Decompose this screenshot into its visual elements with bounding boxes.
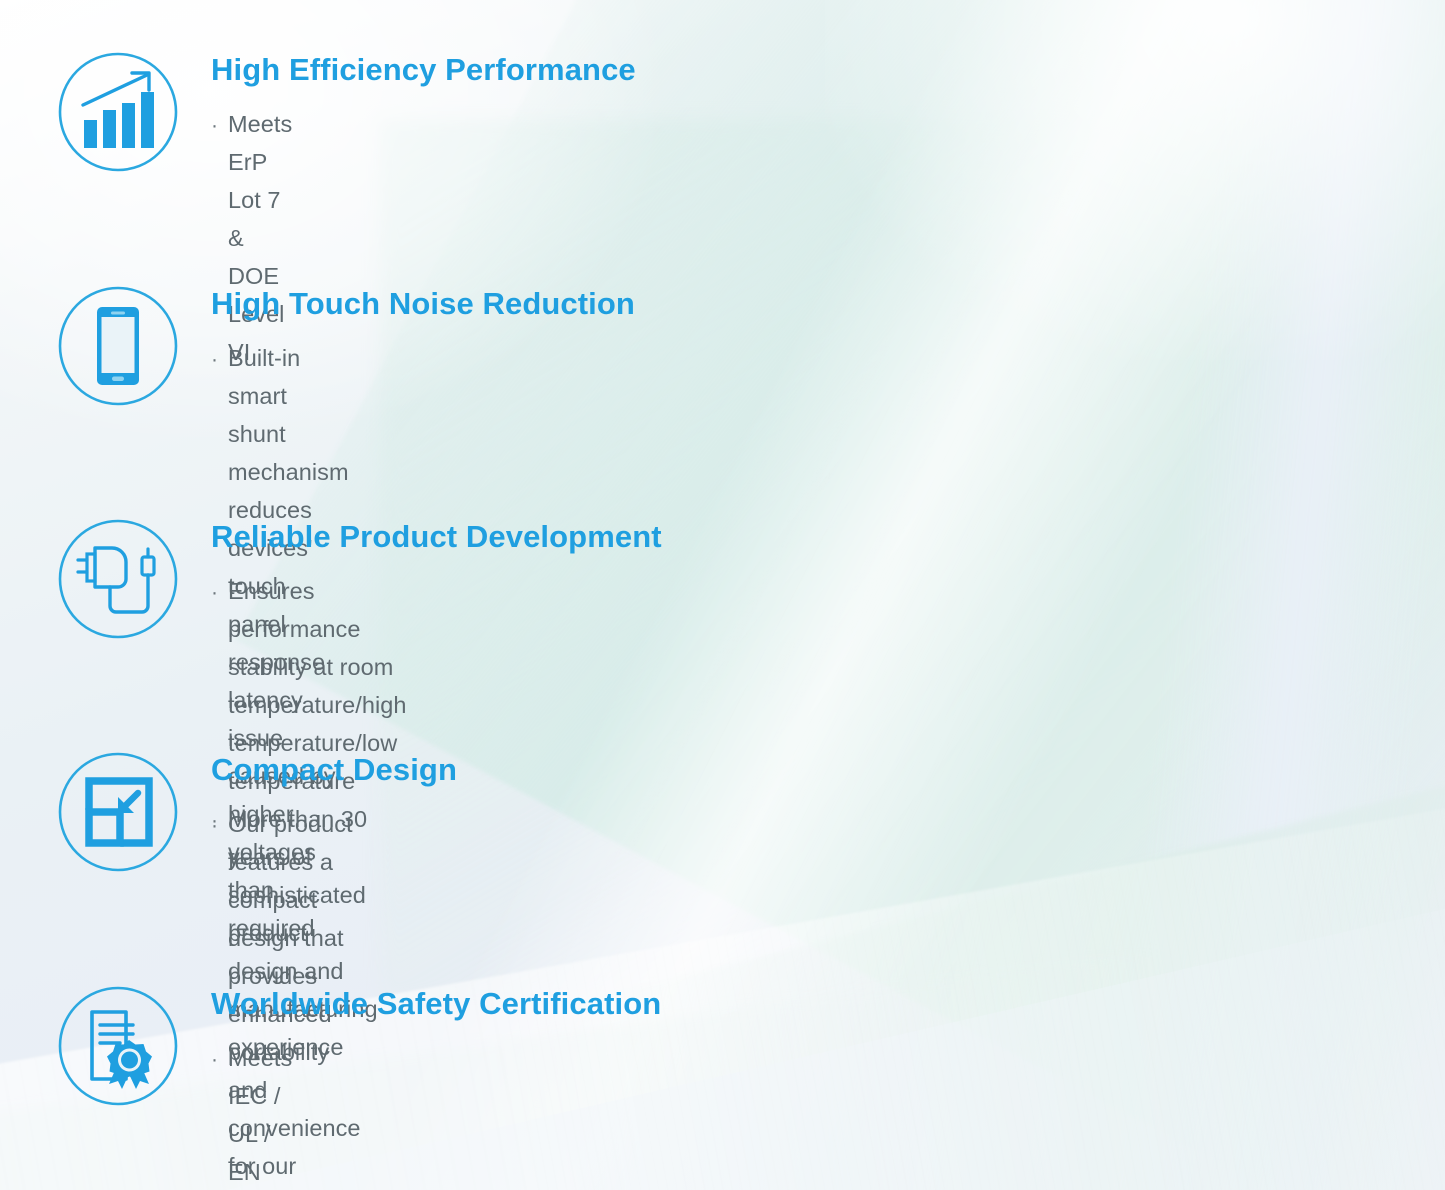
feature-highlights-page: High Efficiency Performance · Meets ErP … (0, 0, 1445, 1190)
power-adapter-icon (54, 515, 182, 643)
bullet-marker: · (211, 1043, 228, 1077)
features-list: High Efficiency Performance · Meets ErP … (0, 0, 1445, 1190)
compact-resize-icon (54, 748, 182, 876)
bullet-text: Meets ErP Lot 7 & DOE Level VI (228, 105, 292, 371)
bullet-marker: · (211, 343, 228, 377)
certificate-award-icon (54, 982, 182, 1110)
bullet-text: Meets IEC / UL / EN 62368-1 (228, 1039, 301, 1190)
bullet-marker: · (211, 109, 228, 143)
bullet-marker: · (211, 576, 228, 610)
bullet-marker: · (211, 809, 228, 843)
bar-chart-growth-icon (54, 48, 182, 176)
smartphone-icon (54, 282, 182, 410)
